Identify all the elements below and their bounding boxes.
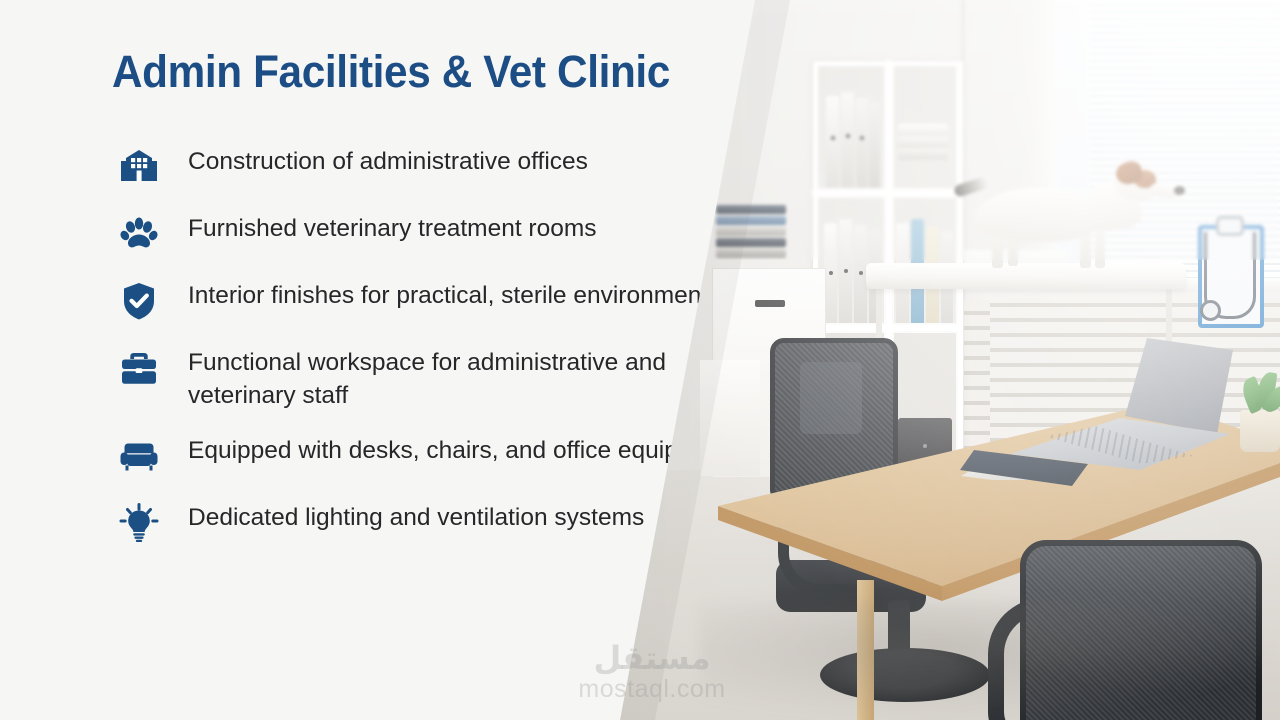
dog	[962, 160, 1172, 270]
floor-shadow	[700, 600, 1280, 720]
bookcase-cube	[818, 66, 884, 188]
dog-nose	[1174, 186, 1185, 195]
armchair-icon	[116, 433, 162, 479]
briefcase-icon	[116, 345, 162, 391]
list-item-label: Functional workspace for administrative …	[188, 344, 733, 412]
lightbulb-icon	[116, 500, 162, 546]
bookcase-cube	[894, 66, 956, 188]
list-item: Dedicated lighting and ventilation syste…	[116, 499, 736, 546]
page-title: Admin Facilities & Vet Clinic	[112, 46, 670, 98]
document-tray	[716, 216, 786, 225]
list-item: Furnished veterinary treatment rooms	[116, 210, 736, 257]
shield-check-icon	[116, 278, 162, 324]
feature-list: Construction of administrative offices F…	[116, 143, 736, 566]
bookcase-shelf	[812, 190, 962, 196]
list-item-label: Equipped with desks, chairs, and office …	[188, 432, 732, 467]
list-item: Functional workspace for administrative …	[116, 344, 736, 412]
bookcase-cube	[818, 198, 884, 323]
slide-canvas: Admin Facilities & Vet Clinic	[0, 0, 1280, 720]
list-item: Interior finishes for practical, sterile…	[116, 277, 736, 324]
document-tray	[716, 227, 786, 236]
list-item-label: Interior finishes for practical, sterile…	[188, 277, 708, 312]
bookcase-cube	[894, 198, 956, 323]
low-cabinet	[700, 360, 760, 476]
paw-print-icon	[116, 211, 162, 257]
document-tray	[716, 238, 786, 247]
document-tray	[716, 249, 786, 258]
plant-pot	[1240, 410, 1280, 452]
dog-leg	[1095, 230, 1105, 268]
list-item-label: Furnished veterinary treatment rooms	[188, 210, 597, 245]
cabinet-handle	[755, 300, 785, 307]
list-item: Equipped with desks, chairs, and office …	[116, 432, 736, 479]
list-item-label: Dedicated lighting and ventilation syste…	[188, 499, 644, 534]
list-item: Construction of administrative offices	[116, 143, 736, 190]
exam-table-leg	[1166, 287, 1172, 345]
office-chair-lumbar	[800, 362, 862, 434]
dog-body	[974, 188, 1104, 242]
list-item-label: Construction of administrative offices	[188, 143, 588, 178]
hospital-building-icon	[116, 144, 162, 190]
bookcase-shelf	[812, 325, 962, 331]
document-tray	[716, 205, 786, 214]
stethoscope-bell	[1200, 300, 1221, 321]
